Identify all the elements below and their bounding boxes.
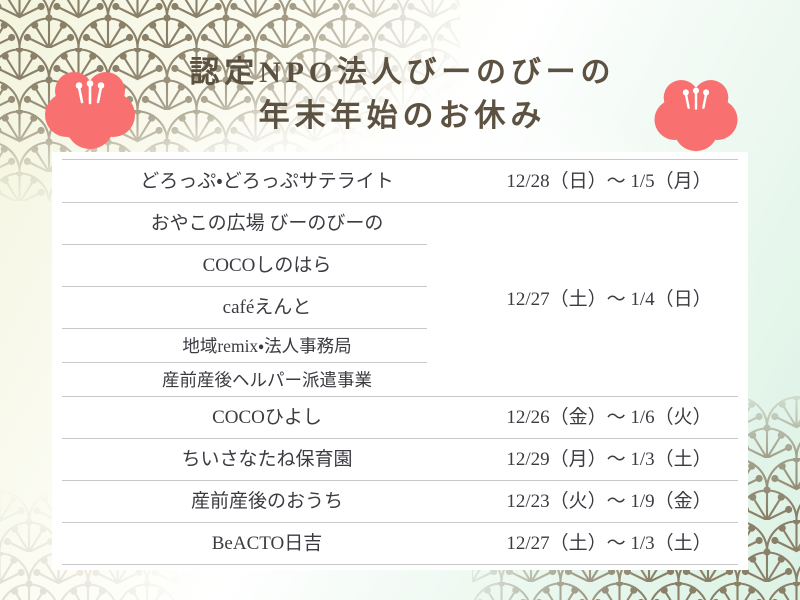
holiday-period: 12/27（土）～ 1/3（土） — [480, 523, 738, 565]
facility-name: どろっぷ・どろっぷサテライト — [62, 160, 472, 203]
holiday-schedule-table: どろっぷ・どろっぷサテライト12/28（日）～ 1/5（月）おやこの広場 びーの… — [52, 152, 748, 570]
holiday-period: 12/29（月）～ 1/3（土） — [480, 439, 738, 481]
facility-name: 産前産後のおうち — [62, 481, 472, 523]
facility-name: BeACTO日吉 — [62, 523, 472, 565]
plum-blossom-icon-right — [648, 78, 744, 154]
facility-name: 産前産後ヘルパー派遣事業 — [62, 363, 472, 397]
facility-name: 地域remix・法人事務局 — [62, 329, 472, 363]
facility-name: COCOしのはら — [62, 245, 472, 287]
holiday-period: 12/28（日）～ 1/5（月） — [480, 160, 738, 203]
holiday-period-merged: 12/27（土）～ 1/4（日） — [480, 203, 738, 397]
table-rule — [62, 564, 738, 565]
holiday-schedule-card: どろっぷ・どろっぷサテライト12/28（日）～ 1/5（月）おやこの広場 びーの… — [52, 152, 748, 570]
facility-name: caféえんと — [62, 287, 472, 329]
facility-name: おやこの広場 びーのびーの — [62, 203, 472, 245]
plum-blossom-icon-left — [38, 70, 142, 152]
holiday-period: 12/26（金）～ 1/6（火） — [480, 397, 738, 439]
facility-name: COCOひよし — [62, 397, 472, 439]
holiday-period: 12/23（火）～ 1/9（金） — [480, 481, 738, 523]
facility-name: ちいさなたね保育園 — [62, 439, 472, 481]
